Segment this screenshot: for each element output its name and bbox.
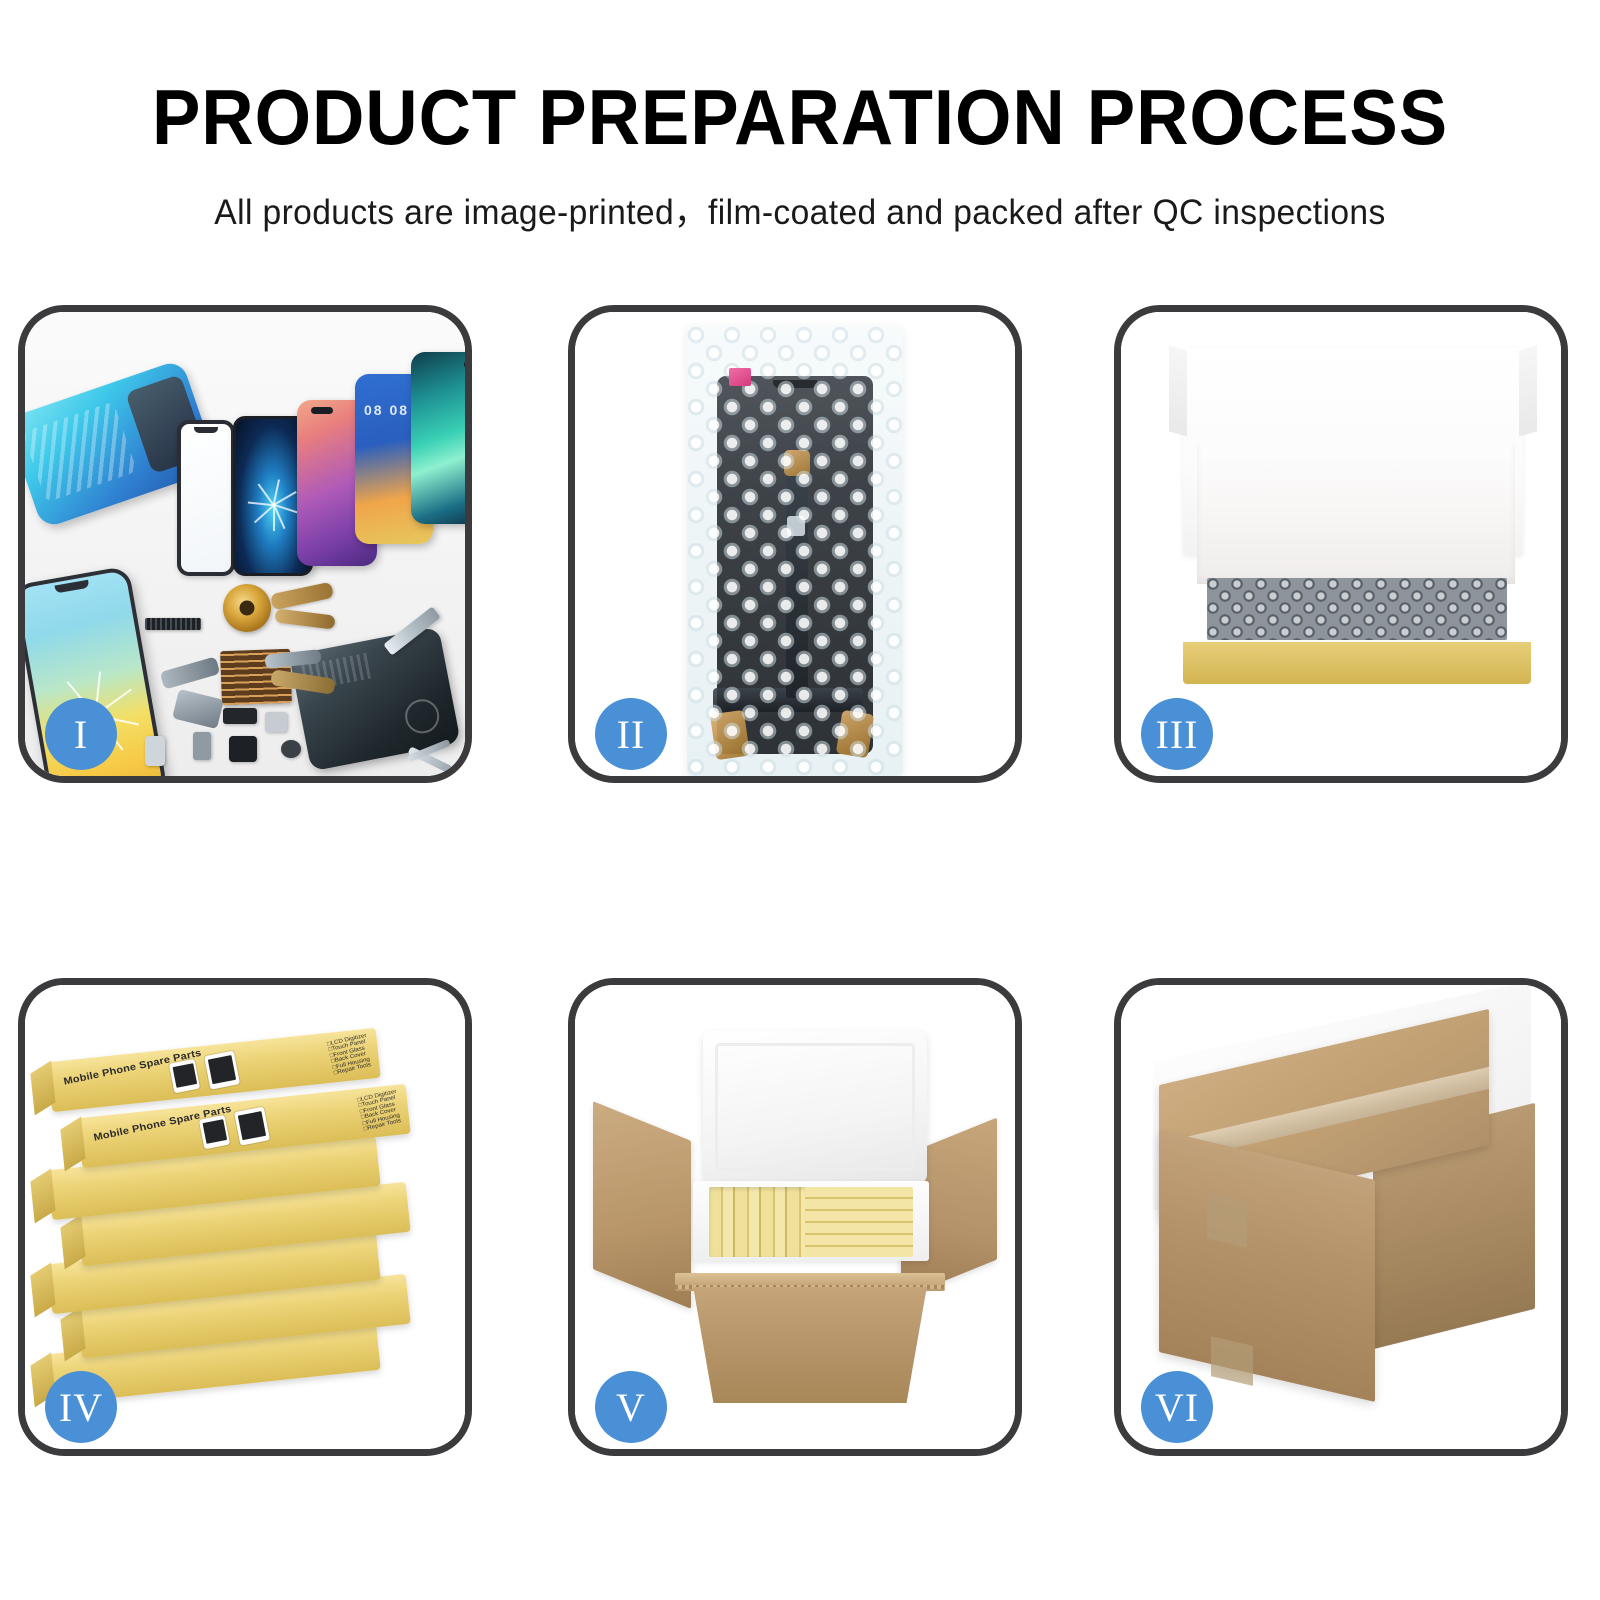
step-badge-1: I [45,698,117,770]
shipping-carton-icon [683,1287,937,1403]
step-card-1: 08 08 [18,305,472,783]
step-card-5: V [568,978,1022,1456]
small-component-icon [229,736,257,762]
grey-bubble-wrap-icon [1207,578,1507,640]
step-badge-2: II [595,698,667,770]
styrofoam-lid-icon [703,1031,927,1183]
retail-box-checklist: LCD Digitizer Touch Panel Front Glass Ba… [357,1089,404,1132]
small-component-icon [223,708,257,724]
gold-tray-front-icon [1183,642,1531,684]
speaker-grille-icon [145,618,201,630]
step-card-3: III [1114,305,1568,783]
box-screen-thumb-icon [204,1051,240,1090]
step-card-6: VI [1114,978,1568,1456]
phone-clock-label: 08 08 [364,402,409,418]
gold-packs-inside-icon [709,1187,913,1257]
wireless-charging-coil-icon [223,584,271,632]
page-subtitle: All products are image-printed，film-coat… [32,184,1568,235]
header: PRODUCT PREPARATION PROCESS All products… [0,0,1600,235]
carton-tape-patch-icon [1211,1336,1253,1386]
sim-tray-icon [193,732,211,760]
box-screen-thumb-icon [234,1107,270,1146]
step-badge-5: V [595,1371,667,1443]
pink-qc-label-icon [729,368,751,386]
white-foam-sheet-icon [1197,444,1515,584]
flex-cable-icon [274,608,335,629]
box-screen-thumb-icon [199,1115,230,1149]
step-badge-3: III [1141,698,1213,770]
green-wave-phone-icon [411,352,465,524]
small-component-icon [265,712,287,732]
bubble-texture-icon [687,326,903,776]
flex-cable-icon [172,689,224,729]
crack-pattern-icon [247,479,299,531]
flex-cable-icon [160,656,221,689]
bubble-wrap-bag [687,326,903,776]
step-badge-4: IV [45,1371,117,1443]
step-badge-6: VI [1141,1371,1213,1443]
infographic-page: PRODUCT PREPARATION PROCESS All products… [0,0,1600,1600]
front-glass-panel-icon [177,420,235,576]
step-card-4: Mobile Phone Spare Parts LCD Digitizer T… [18,978,472,1456]
carton-tape-patch-icon [1207,1192,1247,1247]
step-card-2: II [568,305,1022,783]
small-component-icon [145,736,165,766]
box-screen-thumb-icon [169,1059,200,1093]
page-title: PRODUCT PREPARATION PROCESS [56,78,1544,156]
flex-cable-icon [270,582,334,611]
retail-box-checklist: LCD Digitizer Touch Panel Front Glass Ba… [327,1033,374,1076]
process-step-grid: 08 08 [18,305,1582,1440]
camera-module-icon [281,740,301,758]
